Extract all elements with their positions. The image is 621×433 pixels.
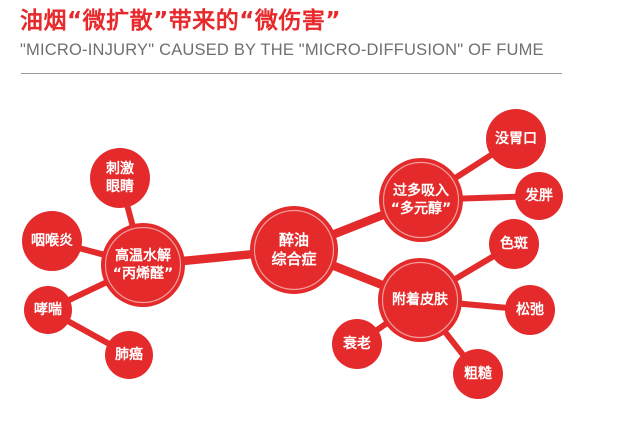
node-label-hydro: “丙烯醛” xyxy=(113,265,173,282)
node-fat[interactable]: 发胖 xyxy=(515,172,563,220)
edge-skin-to-spots xyxy=(454,255,496,280)
node-sag[interactable]: 松弛 xyxy=(505,285,555,335)
node-circle-inhale xyxy=(379,158,463,242)
node-label-lung: 肺癌 xyxy=(115,346,143,363)
node-label-skin: 附着皮肤 xyxy=(392,291,449,308)
edge-hydro-to-eyes xyxy=(127,204,133,227)
edge-inhale-to-fat xyxy=(460,197,518,199)
edge-hydro-to-throat xyxy=(78,248,105,255)
node-inhale[interactable]: 过多吸入“多元醇” xyxy=(379,158,463,242)
node-center[interactable]: 醉油综合症 xyxy=(250,206,338,294)
node-label-noapp: 没胃口 xyxy=(495,131,537,147)
header-divider xyxy=(21,73,562,74)
page-title-english: "MICRO-INJURY" CAUSED BY THE "MICRO-DIFF… xyxy=(20,38,600,62)
node-hydro[interactable]: 高温水解“丙烯醛” xyxy=(101,223,185,307)
edge-center-to-inhale xyxy=(332,214,385,235)
edge-hydro-to-asthma xyxy=(67,282,108,301)
node-label-rough: 粗糙 xyxy=(464,365,492,382)
node-rough[interactable]: 粗糙 xyxy=(453,349,503,399)
edge-center-to-skin xyxy=(332,265,384,285)
node-layer: 醉油综合症高温水解“丙烯醛”过多吸入“多元醇”附着皮肤刺激眼睛咽喉炎哮喘肺癌没胃… xyxy=(22,109,563,399)
node-asthma[interactable]: 哮喘 xyxy=(24,286,72,334)
node-throat[interactable]: 咽喉炎 xyxy=(22,211,82,271)
edge-skin-to-sag xyxy=(459,304,508,308)
mind-map-diagram: 醉油综合症高温水解“丙烯醛”过多吸入“多元醇”附着皮肤刺激眼睛咽喉炎哮喘肺癌没胃… xyxy=(0,82,621,433)
node-lung[interactable]: 肺癌 xyxy=(105,331,153,379)
edge-skin-to-rough xyxy=(444,331,464,357)
node-label-hydro: 高温水解 xyxy=(115,247,171,264)
node-label-asthma: 哮喘 xyxy=(34,301,62,318)
node-noapp[interactable]: 没胃口 xyxy=(486,109,546,169)
node-label-throat: 咽喉炎 xyxy=(31,232,73,249)
header: 油烟“微扩散”带来的“微伤害” "MICRO-INJURY" CAUSED BY… xyxy=(20,6,600,62)
node-circle-hydro xyxy=(101,223,185,307)
edge-asthma-to-lung xyxy=(66,320,110,345)
node-label-center: 综合症 xyxy=(271,250,316,268)
node-label-spots: 色斑 xyxy=(500,235,528,252)
node-label-fat: 发胖 xyxy=(524,187,553,204)
node-skin[interactable]: 附着皮肤 xyxy=(378,258,462,342)
node-label-eyes: 眼睛 xyxy=(106,178,134,195)
edge-inhale-to-noapp xyxy=(454,154,493,179)
node-label-aging: 衰老 xyxy=(342,335,371,352)
node-circle-eyes xyxy=(90,148,150,208)
node-aging[interactable]: 衰老 xyxy=(332,319,382,369)
edge-center-to-hydro xyxy=(182,254,253,261)
node-label-inhale: “多元醇” xyxy=(391,200,451,217)
infographic-page: 油烟“微扩散”带来的“微伤害” "MICRO-INJURY" CAUSED BY… xyxy=(0,0,621,433)
node-spots[interactable]: 色斑 xyxy=(489,219,539,269)
node-eyes[interactable]: 刺激眼睛 xyxy=(90,148,150,208)
page-title-chinese: 油烟“微扩散”带来的“微伤害” xyxy=(20,6,600,36)
node-label-sag: 松弛 xyxy=(516,301,544,318)
node-label-eyes: 刺激 xyxy=(106,160,134,177)
node-label-center: 醉油 xyxy=(279,231,309,249)
node-label-inhale: 过多吸入 xyxy=(393,182,449,199)
